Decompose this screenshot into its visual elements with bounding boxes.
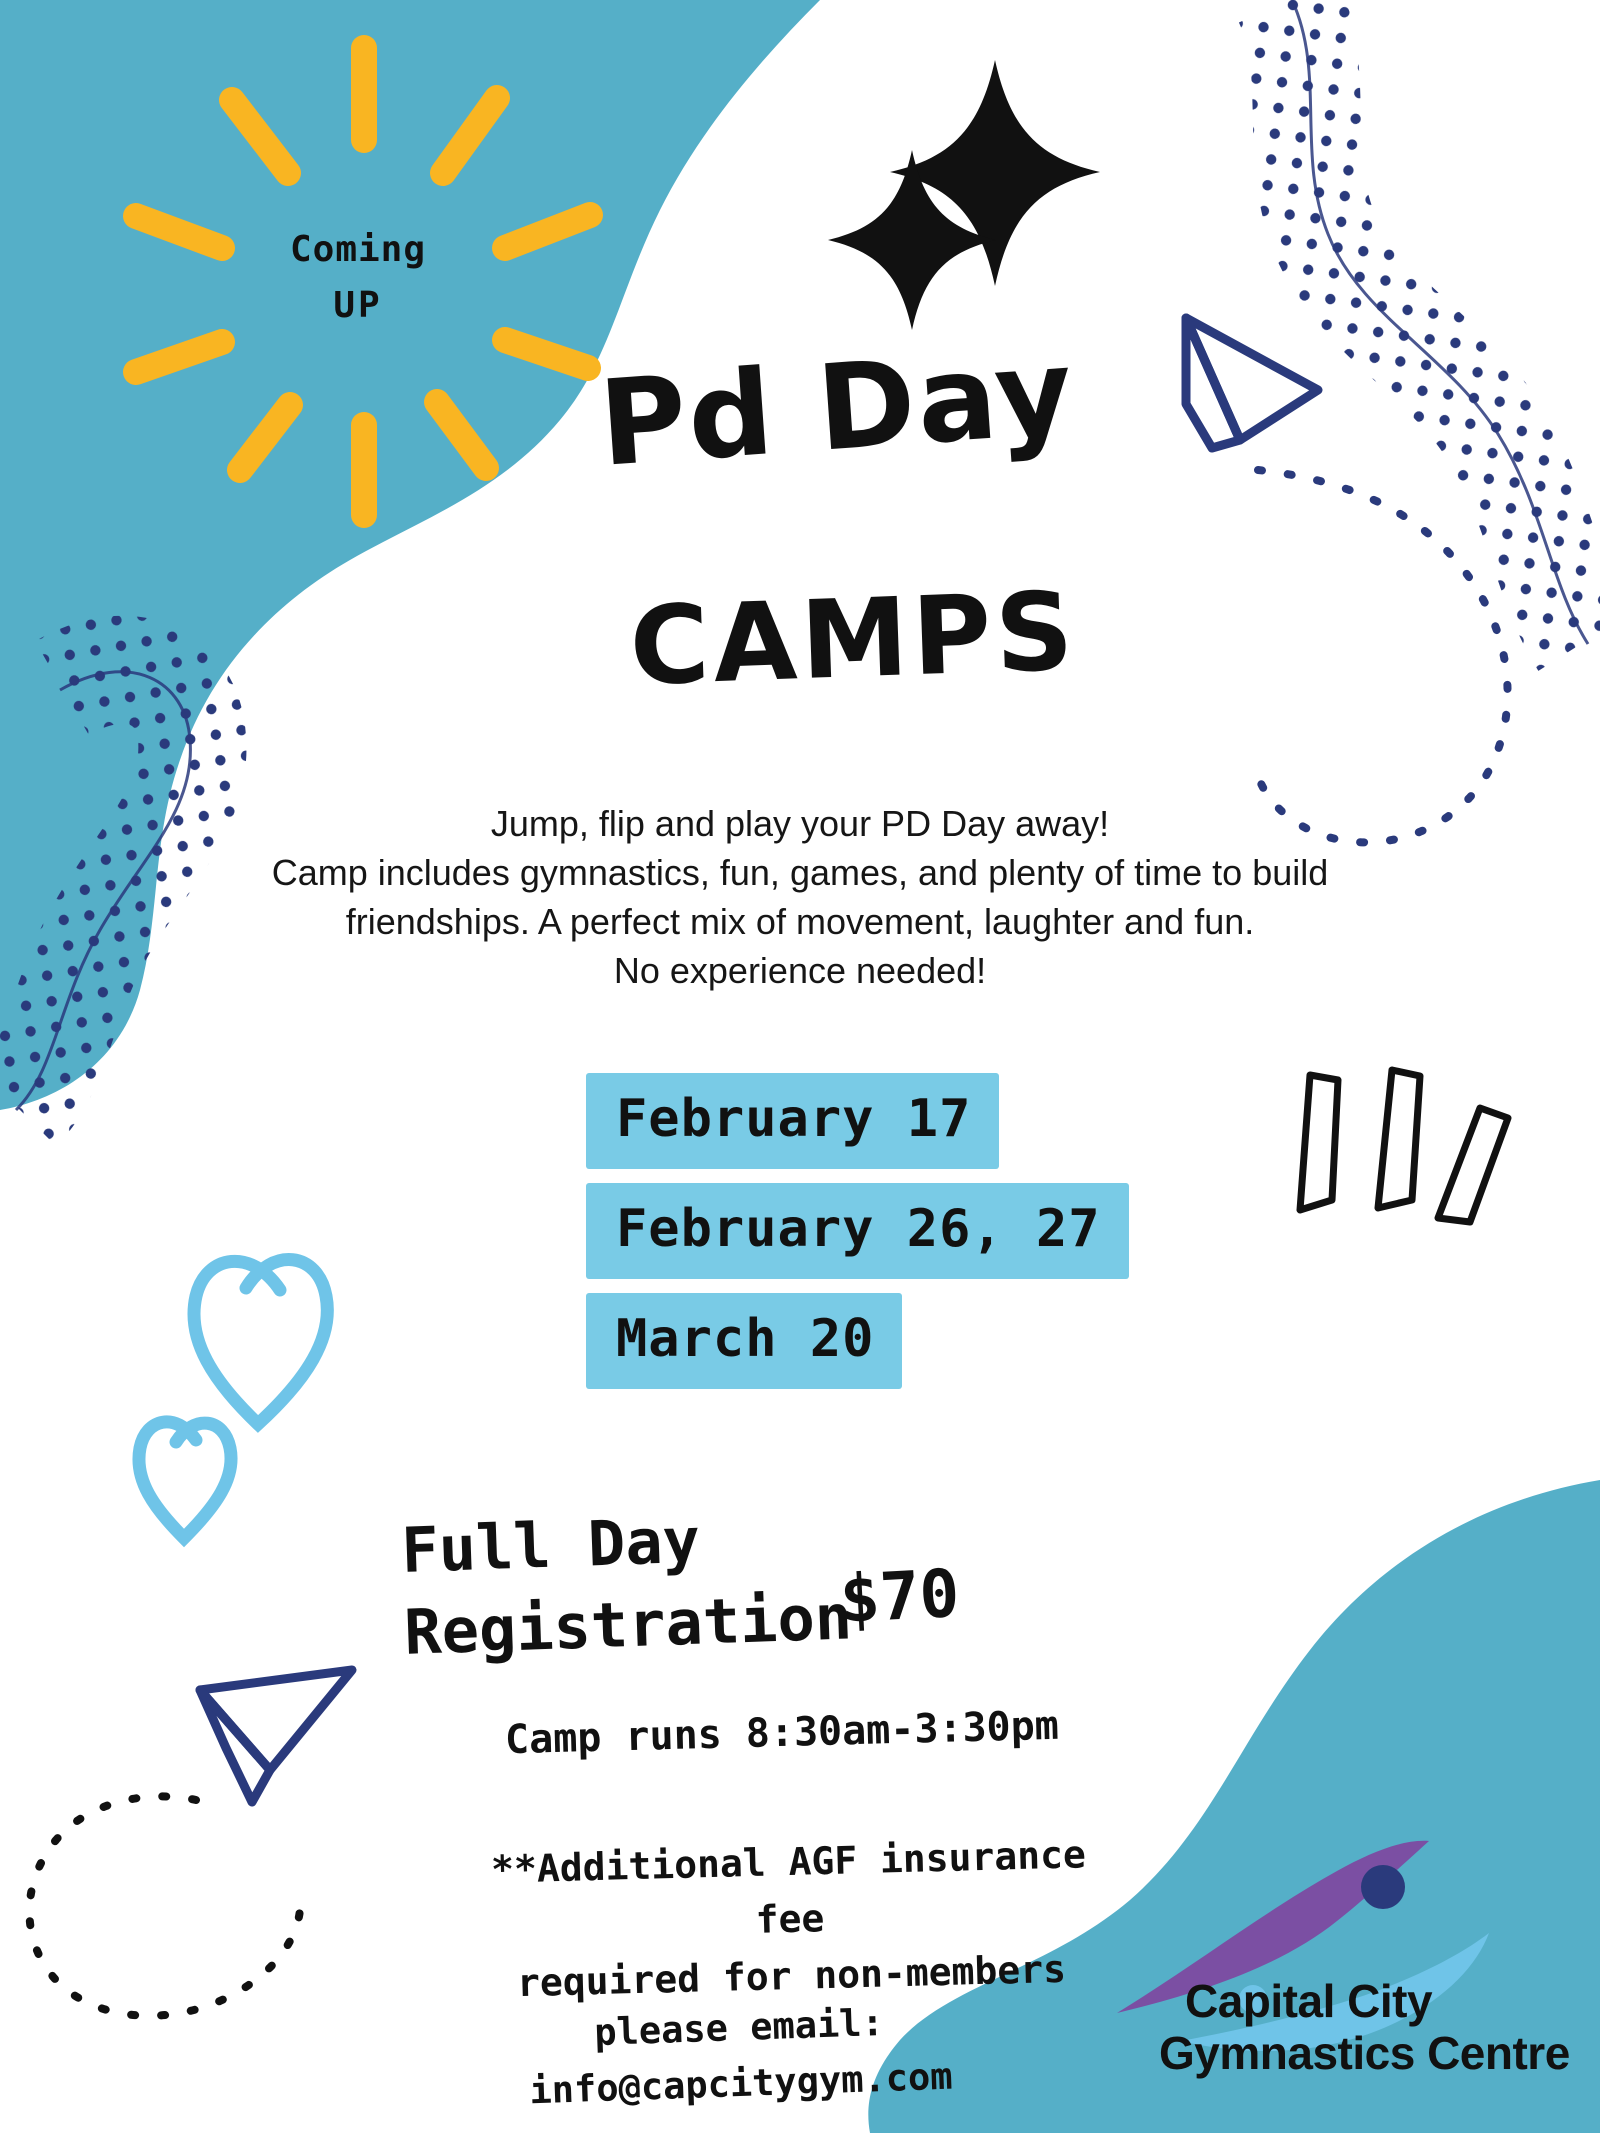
- sun-ray-nw: [232, 100, 288, 173]
- sun-ray-ne: [443, 98, 497, 173]
- navy-paper-plane-top-right: [1186, 318, 1318, 448]
- quill-feather-1: [1300, 1075, 1338, 1210]
- eyebrow-text: Coming UP: [248, 222, 468, 334]
- sparkle-star-large: [890, 60, 1100, 286]
- sun-ray-sw: [240, 405, 290, 470]
- description-block: Jump, flip and play your PD Day away! Ca…: [90, 800, 1510, 996]
- logo-name-line-1: Capital City: [1185, 1975, 1570, 2027]
- page-title-line-2: CAMPS: [628, 569, 1079, 710]
- registration-title-line-2: Registration: [403, 1576, 854, 1673]
- date-banner-1[interactable]: February 17: [586, 1073, 999, 1169]
- date-banner-row-2: February 26, 27: [586, 1183, 1129, 1293]
- navy-paper-plane-bottom-left: [200, 1670, 352, 1802]
- poster-canvas: Coming UP Pd Day CAMPS Jump, flip and pl…: [0, 0, 1600, 2133]
- registration-title-line-1: Full Day: [400, 1494, 851, 1591]
- description-line-4: No experience needed!: [90, 947, 1510, 996]
- sun-ray-w: [136, 342, 222, 372]
- background-decorations: [0, 0, 1600, 2133]
- registration-price: $70: [838, 1555, 961, 1638]
- date-banner-2[interactable]: February 26, 27: [586, 1183, 1129, 1279]
- page-title-line-1: Pd Day: [595, 322, 1078, 493]
- eyebrow-line-1: Coming: [248, 222, 468, 278]
- logo-head-dot: [1361, 1865, 1405, 1909]
- date-banner-list: February 17 February 26, 27 March 20: [586, 1073, 1129, 1403]
- sun-ray-s: [437, 402, 486, 468]
- date-banner-3[interactable]: March 20: [586, 1293, 902, 1389]
- black-dashed-curve-bottom-left: [29, 1796, 300, 2015]
- sun-ray-e: [505, 215, 590, 248]
- description-line-3: friendships. A perfect mix of movement, …: [90, 898, 1510, 947]
- date-banner-row-1: February 17: [586, 1073, 1129, 1183]
- logo-name-line-2: Gymnastics Centre: [1159, 2027, 1570, 2079]
- date-banner-row-3: March 20: [586, 1293, 1129, 1403]
- description-line-2: Camp includes gymnastics, fun, games, an…: [90, 849, 1510, 898]
- quill-feather-3: [1438, 1108, 1508, 1222]
- registration-title: Full Day Registration: [400, 1494, 853, 1673]
- sun-ray-se: [505, 340, 588, 368]
- camp-hours: Camp runs 8:30am-3:30pm: [504, 1703, 1059, 1763]
- logo: Capital City Gymnastics Centre: [985, 1815, 1585, 2115]
- eyebrow-line-2: UP: [248, 278, 468, 334]
- sparkle-star-small: [828, 150, 996, 330]
- heart-outline-small: [139, 1422, 231, 1538]
- description-line-1: Jump, flip and play your PD Day away!: [90, 800, 1510, 849]
- sun-ray-wn: [136, 216, 222, 248]
- contact-block: please email: info@capcitygym.com: [478, 1991, 1002, 2120]
- quill-feather-trio: [1300, 1070, 1508, 1222]
- heart-outline-large: [194, 1260, 327, 1424]
- logo-text: Capital City Gymnastics Centre: [1185, 1975, 1570, 2080]
- quill-feather-2: [1378, 1070, 1420, 1208]
- navy-dotted-wave-top-right: [1288, 0, 1584, 642]
- wave-outline-top: [1292, 0, 1588, 644]
- navy-dashed-curve-right: [1254, 470, 1508, 842]
